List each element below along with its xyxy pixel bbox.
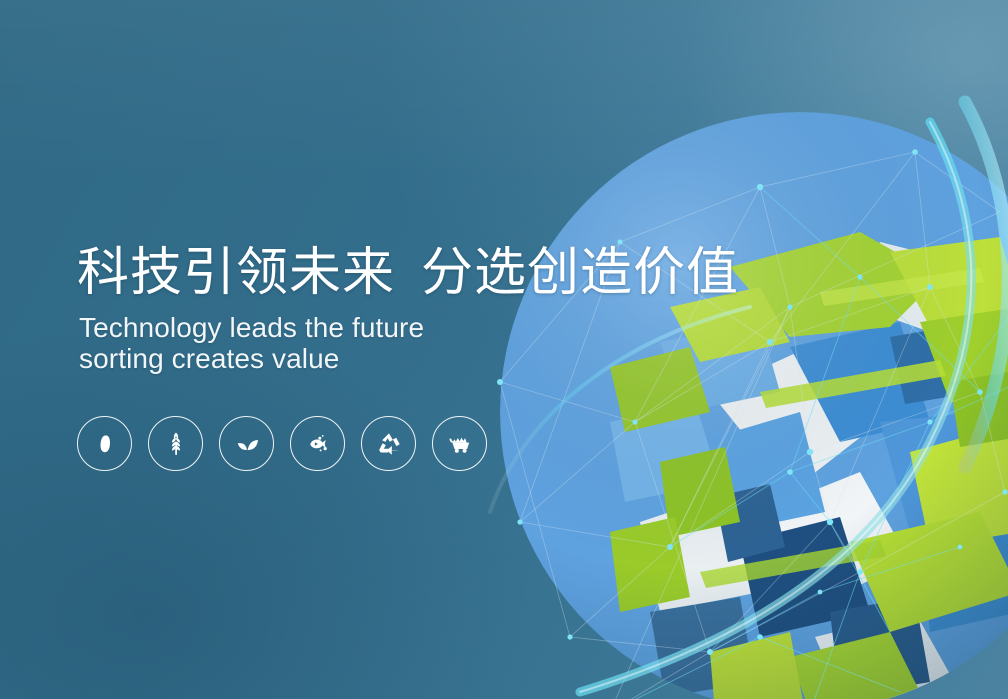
leaf-icon bbox=[232, 429, 262, 459]
hero-banner: 科技引领未来分选创造价值 Technology leads the future… bbox=[0, 0, 1008, 699]
headline-part-1: 科技引领未来 bbox=[77, 244, 395, 302]
icon-badge-mine-cart[interactable] bbox=[432, 416, 487, 471]
recycle-icon bbox=[375, 430, 403, 458]
icon-badge-fish[interactable] bbox=[290, 416, 345, 471]
rice-grain-icon bbox=[92, 431, 118, 457]
page-subtitle: Technology leads the future sorting crea… bbox=[79, 312, 424, 374]
subtitle-line-2: sorting creates value bbox=[79, 343, 424, 374]
page-title: 科技引领未来分选创造价值 bbox=[77, 243, 739, 303]
mine-cart-icon bbox=[445, 429, 475, 459]
subtitle-line-1: Technology leads the future bbox=[79, 312, 424, 343]
icon-badge-recycle[interactable] bbox=[361, 416, 416, 471]
industry-icon-row bbox=[77, 416, 487, 471]
icon-badge-wheat[interactable] bbox=[148, 416, 203, 471]
icon-badge-rice-grain[interactable] bbox=[77, 416, 132, 471]
wheat-icon bbox=[162, 430, 190, 458]
headline-part-2: 分选创造价值 bbox=[421, 244, 739, 302]
icon-badge-leaf[interactable] bbox=[219, 416, 274, 471]
fish-icon bbox=[303, 429, 333, 459]
